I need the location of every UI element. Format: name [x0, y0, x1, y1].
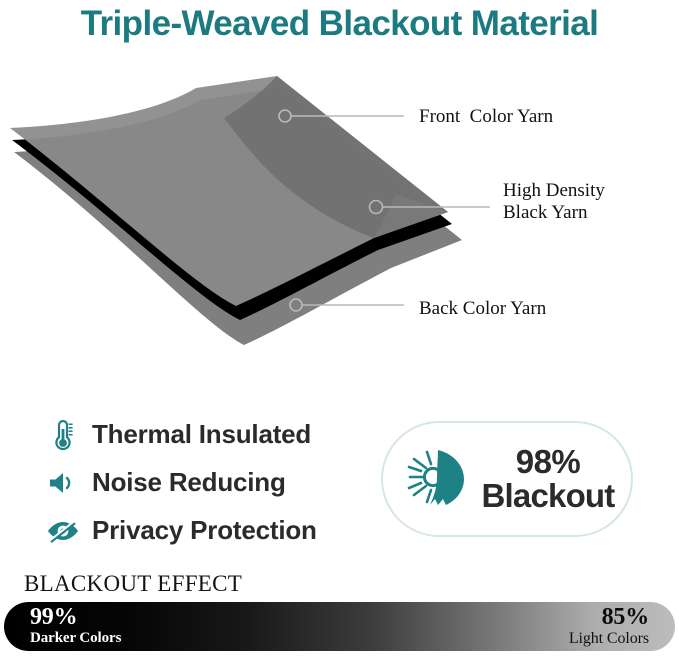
feature-label-noise-reducing: Noise Reducing: [92, 467, 286, 498]
effect-left-percent: 99%: [30, 605, 77, 629]
callout-leader-back: [290, 299, 404, 311]
speaker-sound-icon: [46, 466, 80, 500]
callout-label-back-color-yarn: Back Color Yarn: [419, 298, 546, 320]
callout-leader-high-density: [370, 201, 491, 214]
callout-leader-front: [279, 110, 404, 122]
effect-bar-right-group: 85% Light Colors: [569, 602, 649, 651]
callout-label-high-density-black-yarn: High Density Black Yarn: [503, 180, 605, 225]
blackout-percent: 98%: [482, 445, 615, 479]
callout-dot-back: [290, 299, 302, 311]
feature-list: Thermal Insulated Noise Reducing Privacy…: [46, 412, 376, 556]
effect-right-caption: Light Colors: [569, 629, 649, 649]
sun-behind-curtain-icon: [400, 443, 472, 515]
page-title: Triple-Weaved Blackout Material: [0, 4, 679, 44]
thermometer-icon: [46, 418, 80, 452]
feature-label-privacy-protection: Privacy Protection: [92, 515, 317, 546]
callout-dot-front: [279, 110, 291, 122]
blackout-text-group: 98% Blackout: [482, 445, 615, 514]
blackout-word: Blackout: [482, 479, 615, 513]
blackout-badge: 98% Blackout: [381, 421, 633, 537]
feature-label-thermal-insulated: Thermal Insulated: [92, 419, 311, 450]
callout-label-front-color-yarn: Front Color Yarn: [419, 106, 553, 128]
effect-bar-left-group: 99% Darker Colors: [30, 602, 121, 651]
callout-dot-high-density: [370, 201, 383, 214]
effect-right-percent: 85%: [602, 605, 649, 629]
feature-item-noise-reducing: Noise Reducing: [46, 460, 376, 505]
feature-item-thermal-insulated: Thermal Insulated: [46, 412, 376, 457]
effect-left-caption: Darker Colors: [30, 629, 121, 648]
feature-item-privacy-protection: Privacy Protection: [46, 508, 376, 553]
blackout-effect-heading: BLACKOUT EFFECT: [24, 571, 242, 597]
blackout-effect-gradient-bar: 99% Darker Colors 85% Light Colors: [4, 602, 675, 651]
eye-slash-icon: [46, 514, 80, 548]
